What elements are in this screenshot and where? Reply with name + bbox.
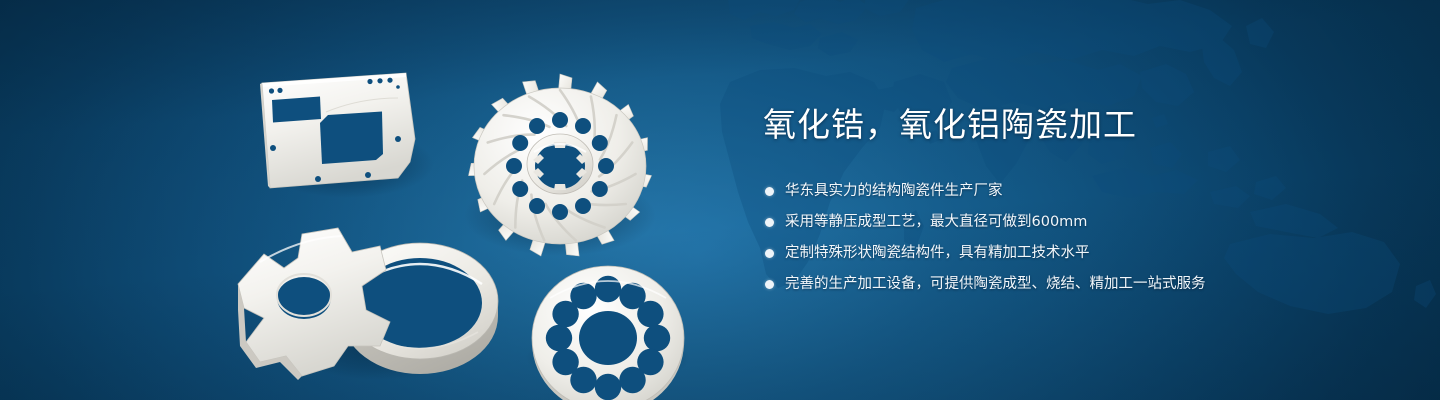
list-item-label: 完善的生产加工设备，可提供陶瓷成型、烧结、精加工一站式服务 — [785, 276, 1206, 292]
hero-banner: 氧化锆，氧化铝陶瓷加工 华东具实力的结构陶瓷件生产厂家 采用等静压成型工艺，最大… — [0, 0, 1440, 400]
banner-copy: 氧化锆，氧化铝陶瓷加工 华东具实力的结构陶瓷件生产厂家 采用等静压成型工艺，最大… — [763, 106, 1323, 295]
list-item: 采用等静压成型工艺，最大直径可做到600mm — [763, 212, 1323, 233]
ceramic-products-photo — [230, 46, 710, 386]
bullet-dot-icon — [765, 249, 774, 258]
bullet-dot-icon — [765, 280, 774, 289]
bullet-dot-icon — [765, 218, 774, 227]
list-item-label: 定制特殊形状陶瓷结构件，具有精加工技术水平 — [785, 245, 1090, 261]
list-item: 华东具实力的结构陶瓷件生产厂家 — [763, 181, 1323, 202]
list-item: 定制特殊形状陶瓷结构件，具有精加工技术水平 — [763, 243, 1323, 264]
page-title: 氧化锆，氧化铝陶瓷加工 — [763, 106, 1323, 145]
ceramic-hole-disc — [532, 266, 684, 400]
bullet-dot-icon — [765, 187, 774, 196]
list-item: 完善的生产加工设备，可提供陶瓷成型、烧结、精加工一站式服务 — [763, 274, 1323, 295]
feature-list: 华东具实力的结构陶瓷件生产厂家 采用等静压成型工艺，最大直径可做到600mm 定… — [763, 181, 1323, 295]
list-item-label: 华东具实力的结构陶瓷件生产厂家 — [785, 183, 1003, 199]
list-item-label: 采用等静压成型工艺，最大直径可做到600mm — [785, 214, 1087, 230]
ceramic-mounting-plate — [260, 73, 415, 188]
disc-center-bore — [579, 311, 637, 365]
